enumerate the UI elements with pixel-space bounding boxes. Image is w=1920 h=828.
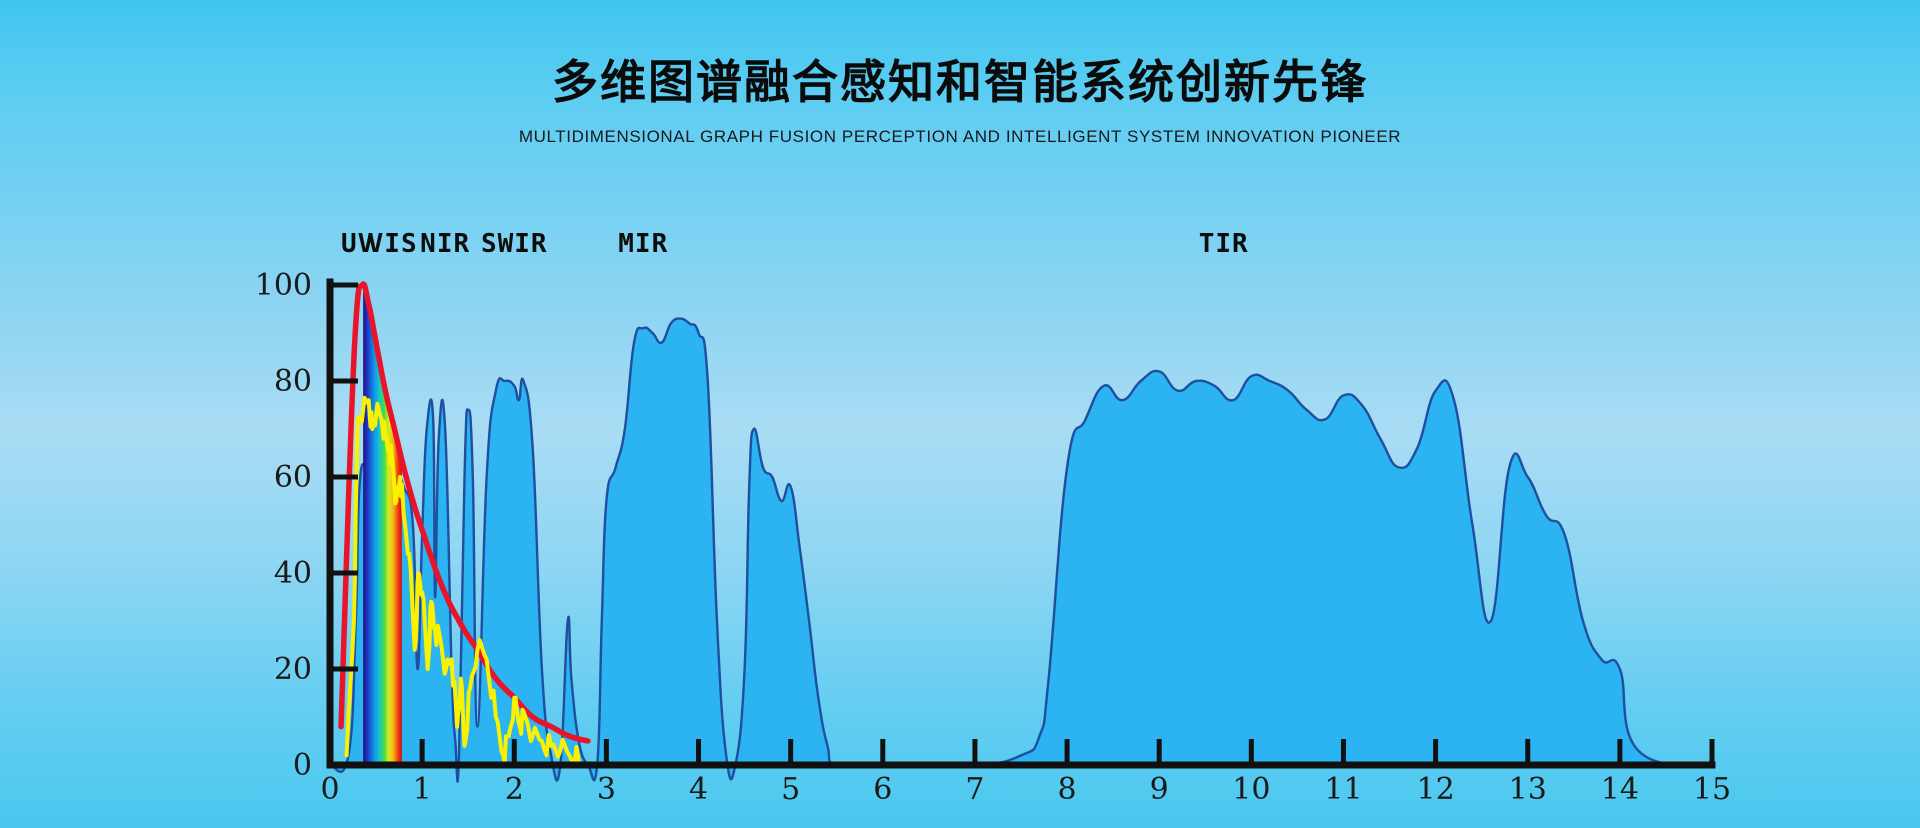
y-axis-ticks [333, 285, 358, 765]
x-tick-label-1: 1 [413, 772, 432, 807]
x-axis-ticks [330, 739, 1712, 762]
axes-layer: 0123456789101112131415 020406080100 [255, 268, 1731, 807]
band-label-swir: SWIR [481, 229, 548, 259]
page-subtitle: MULTIDIMENSIONAL GRAPH FUSION PERCEPTION… [0, 127, 1920, 147]
x-tick-label-13: 13 [1509, 772, 1547, 807]
x-tick-label-4: 4 [689, 772, 708, 807]
band-label-group: UVVISNIRSWIRMIRTIR [341, 229, 1249, 259]
x-tick-label-7: 7 [965, 772, 984, 807]
series-layer [330, 265, 1712, 782]
y-tick-label-0: 0 [293, 748, 312, 783]
x-tick-label-2: 2 [505, 772, 524, 807]
visible-rainbow-band [363, 265, 402, 765]
x-tick-label-14: 14 [1601, 772, 1639, 807]
x-tick-label-0: 0 [320, 772, 339, 807]
y-tick-label-80: 80 [274, 364, 312, 399]
x-tick-label-5: 5 [781, 772, 800, 807]
atmospheric-transmission-area [330, 319, 1712, 782]
band-label-nir: NIR [420, 229, 470, 259]
band-label-uv: UV [341, 229, 374, 259]
x-tick-label-15: 15 [1693, 772, 1731, 807]
y-tick-label-40: 40 [274, 556, 312, 591]
y-tick-label-100: 100 [255, 268, 312, 303]
band-label-vis: VIS [368, 229, 418, 259]
page-header: 多维图谱融合感知和智能系统创新先锋 MULTIDIMENSIONAL GRAPH… [0, 0, 1920, 147]
x-tick-label-6: 6 [873, 772, 892, 807]
band-label-tir: TIR [1199, 229, 1249, 259]
x-tick-label-11: 11 [1324, 772, 1362, 807]
x-tick-label-12: 12 [1417, 772, 1455, 807]
y-tick-label-20: 20 [274, 652, 312, 687]
y-tick-label-60: 60 [274, 460, 312, 495]
x-tick-label-10: 10 [1232, 772, 1270, 807]
x-tick-label-8: 8 [1058, 772, 1077, 807]
band-label-mir: MIR [618, 229, 668, 259]
x-tick-label-9: 9 [1150, 772, 1169, 807]
blackbody-curve [341, 284, 588, 741]
y-axis-tick-labels: 020406080100 [255, 268, 312, 783]
page-title: 多维图谱融合感知和智能系统创新先锋 [0, 56, 1920, 109]
surface-solar-spectrum-curve [347, 398, 579, 765]
x-tick-label-3: 3 [597, 772, 616, 807]
x-axis-tick-labels: 0123456789101112131415 [320, 772, 1731, 807]
